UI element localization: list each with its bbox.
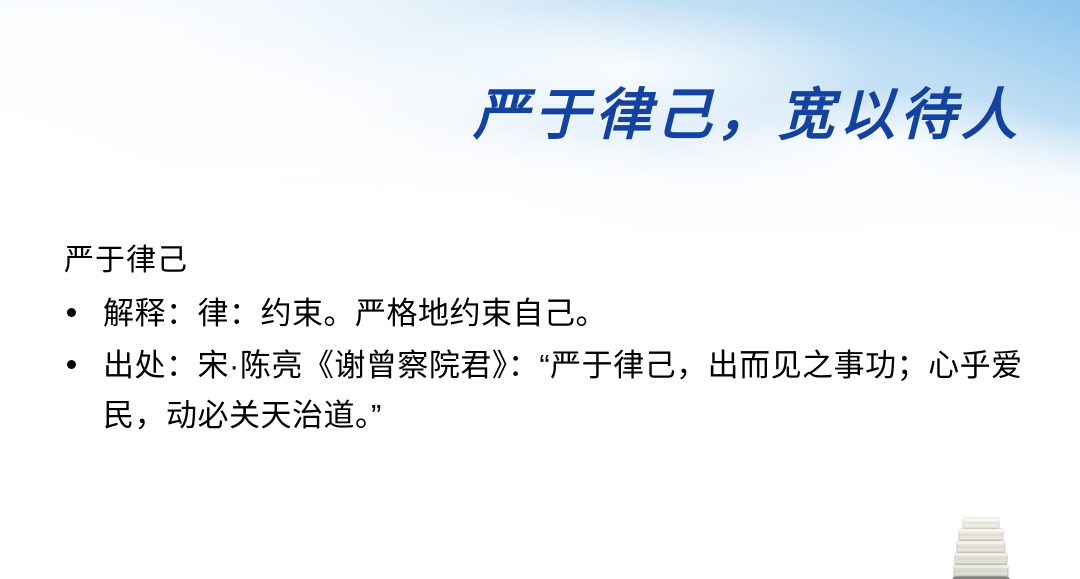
slide-title: 严于律己，宽以待人: [473, 86, 1022, 145]
bullet-dot-icon: [67, 308, 76, 317]
stack-of-books-image: [949, 512, 1015, 579]
slide-canvas: 严于律己，宽以待人 严于律己 解释：律：约束。严格地约束自己。 出处：宋·陈亮《…: [0, 0, 1080, 579]
bullet-item-explanation: 解释：律：约束。严格地约束自己。: [64, 289, 1024, 339]
bullet-text-explanation: 解释：律：约束。严格地约束自己。: [103, 289, 1024, 339]
slide-body: 严于律己 解释：律：约束。严格地约束自己。 出处：宋·陈亮《谢曾察院君》：“严于…: [64, 238, 1024, 444]
bullet-dot-icon: [67, 360, 76, 369]
bullet-text-source: 出处：宋·陈亮《谢曾察院君》：“严于律己，出而见之事功；心乎爱民，动必关天治道。…: [103, 341, 1024, 441]
bullet-list: 解释：律：约束。严格地约束自己。 出处：宋·陈亮《谢曾察院君》：“严于律己，出而…: [64, 289, 1024, 442]
body-lead-line: 严于律己: [64, 238, 1024, 283]
bullet-item-source: 出处：宋·陈亮《谢曾察院君》：“严于律己，出而见之事功；心乎爱民，动必关天治道。…: [64, 341, 1024, 441]
